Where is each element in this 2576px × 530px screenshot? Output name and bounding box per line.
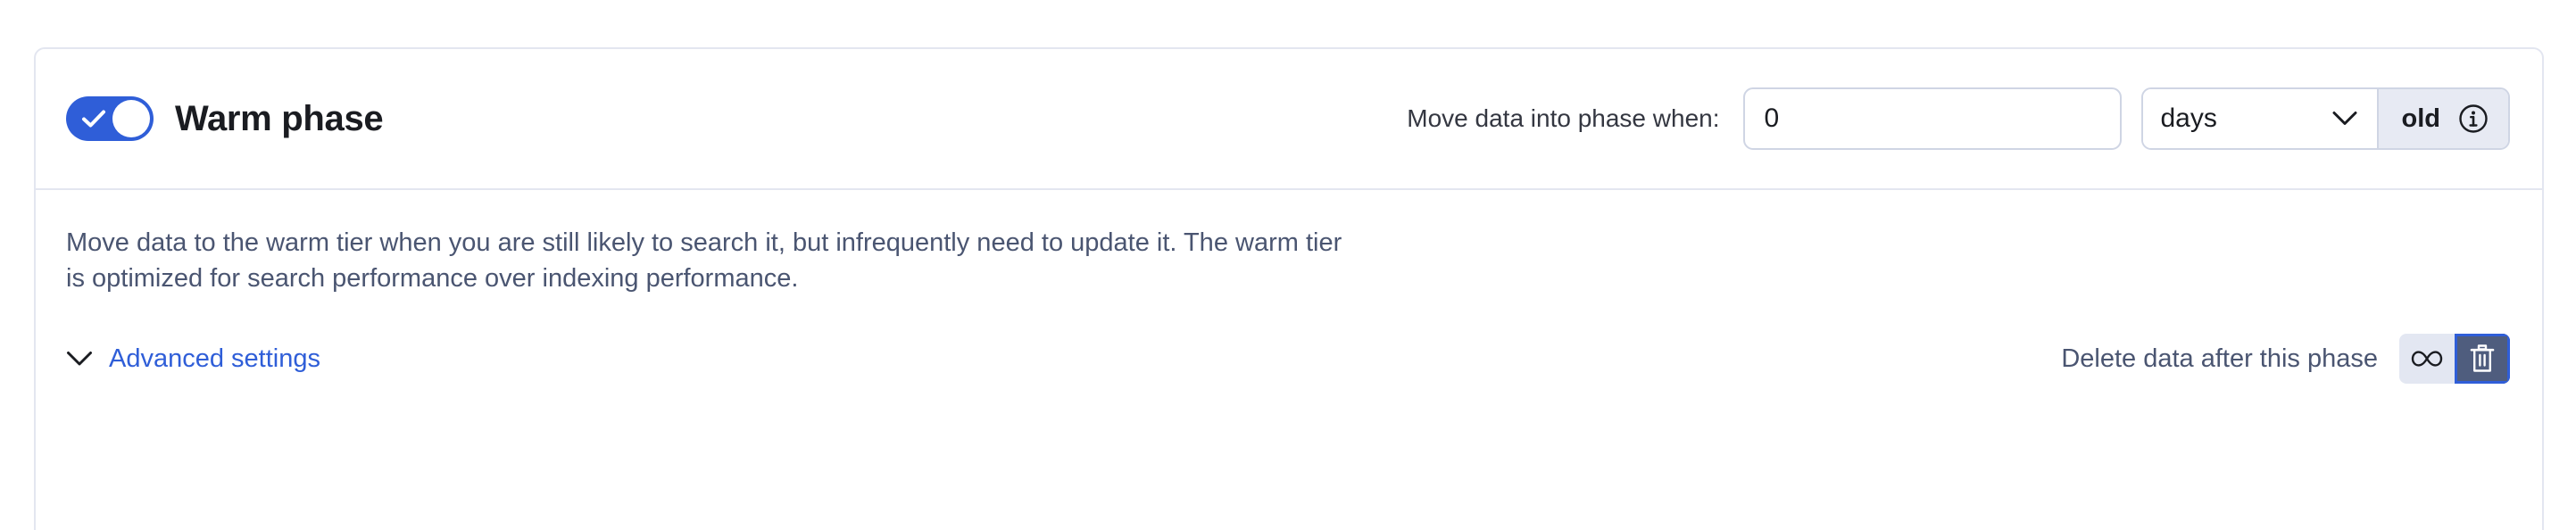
phase-description: Move data to the warm tier when you are … <box>66 226 1360 296</box>
unit-control-group: days old <box>2141 87 2511 150</box>
advanced-settings-toggle[interactable]: Advanced settings <box>66 344 320 374</box>
append-label: old <box>2402 104 2441 134</box>
min-age-unit-select[interactable]: days <box>2143 89 2377 148</box>
info-circle-icon[interactable] <box>2458 104 2489 134</box>
page-title: Warm phase <box>175 99 383 139</box>
delete-data-label: Delete data after this phase <box>2061 344 2378 374</box>
trash-icon <box>2469 344 2496 374</box>
chevron-down-icon <box>2332 112 2357 127</box>
chevron-down-icon <box>66 351 93 367</box>
min-age-label: Move data into phase when: <box>1407 104 1719 133</box>
check-icon <box>81 108 106 129</box>
delete-data-button[interactable] <box>2455 334 2510 384</box>
phase-header-left: Warm phase <box>66 96 383 141</box>
infinity-icon <box>2411 349 2443 369</box>
unit-select-value: days <box>2161 104 2217 134</box>
delete-data-group: Delete data after this phase <box>2061 334 2510 384</box>
delete-option-button-group <box>2399 334 2510 384</box>
warm-phase-toggle[interactable] <box>66 96 154 141</box>
advanced-settings-label: Advanced settings <box>109 344 320 374</box>
phase-body: Move data to the warm tier when you are … <box>36 190 2542 419</box>
screen-root: Warm phase Move data into phase when: da… <box>0 0 2576 530</box>
min-age-input[interactable] <box>1743 87 2122 150</box>
keep-data-forever-button[interactable] <box>2399 334 2455 384</box>
phase-header: Warm phase Move data into phase when: da… <box>36 49 2542 190</box>
phase-header-right: Move data into phase when: days old <box>1407 87 2510 150</box>
warm-phase-panel: Warm phase Move data into phase when: da… <box>34 47 2544 530</box>
phase-footer-row: Advanced settings Delete data after this… <box>66 334 2510 419</box>
toggle-knob <box>112 100 150 137</box>
unit-append: old <box>2377 89 2509 148</box>
